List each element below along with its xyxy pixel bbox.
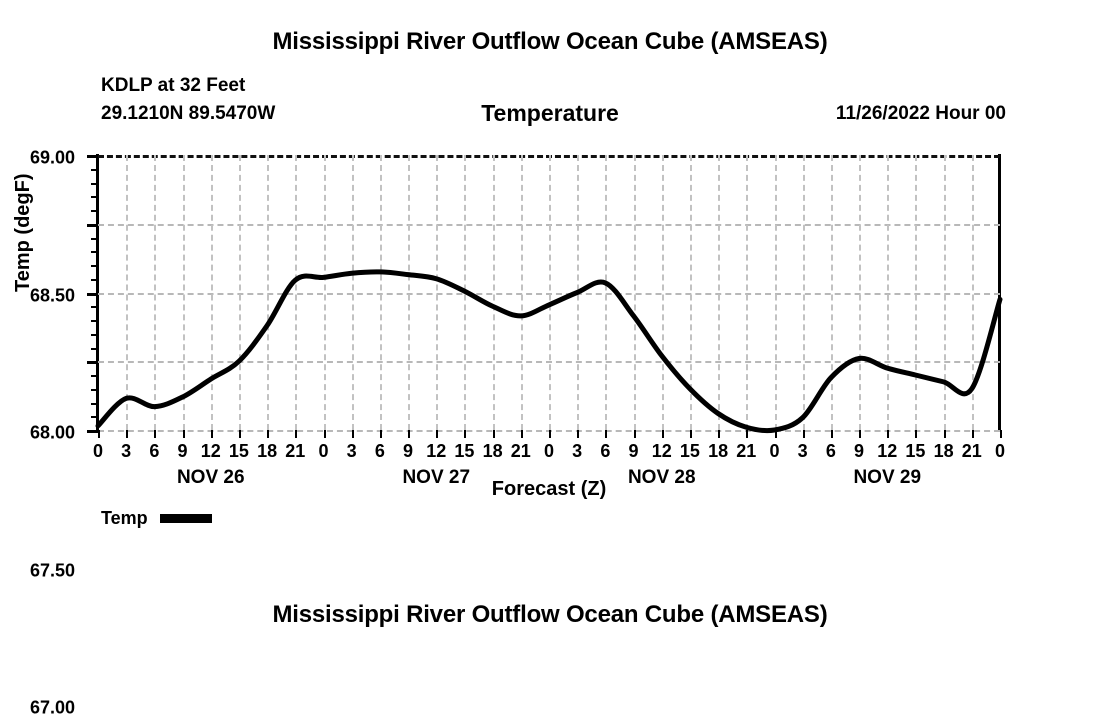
y-tick-minor xyxy=(91,403,98,405)
y-tick-minor xyxy=(91,251,98,253)
x-tick-label: 21 xyxy=(736,441,756,462)
x-tick xyxy=(972,430,974,438)
x-tick xyxy=(408,430,410,438)
legend-label-temp: Temp xyxy=(101,508,148,529)
x-tick xyxy=(154,430,156,438)
y-tick-major: 68.50 xyxy=(87,224,98,227)
y-tick-minor xyxy=(91,416,98,418)
x-tick-label: 3 xyxy=(121,441,131,462)
x-tick-label: 6 xyxy=(826,441,836,462)
x-tick xyxy=(436,430,438,438)
y-tick-minor xyxy=(91,334,98,336)
x-tick xyxy=(662,430,664,438)
x-tick-label: 0 xyxy=(544,441,554,462)
x-tick-label: 18 xyxy=(483,441,503,462)
model-run-time-label: 11/26/2022 Hour 00 xyxy=(836,103,1006,125)
x-tick xyxy=(746,430,748,438)
x-tick xyxy=(183,430,185,438)
x-tick xyxy=(1000,430,1002,438)
x-tick xyxy=(267,430,269,438)
chart-page: Mississippi River Outflow Ocean Cube (AM… xyxy=(0,0,1100,650)
x-tick xyxy=(944,430,946,438)
x-tick-label: 15 xyxy=(229,441,249,462)
x-axis-title: Forecast (Z) xyxy=(98,478,1000,501)
x-tick-label: 9 xyxy=(178,441,188,462)
x-tick xyxy=(803,430,805,438)
y-tick-minor xyxy=(91,348,98,350)
x-tick xyxy=(239,430,241,438)
x-tick xyxy=(605,430,607,438)
y-tick-minor xyxy=(91,389,98,391)
x-tick-label: 3 xyxy=(347,441,357,462)
x-tick-label: 3 xyxy=(798,441,808,462)
x-tick-label: 0 xyxy=(318,441,328,462)
station-depth-label: KDLP at 32 Feet xyxy=(101,75,245,97)
temperature-series-line xyxy=(98,155,1000,430)
x-tick-label: 15 xyxy=(905,441,925,462)
y-tick-label: 68.00 xyxy=(30,423,75,444)
y-tick-label: 69.00 xyxy=(30,148,75,169)
x-tick-label: 15 xyxy=(454,441,474,462)
x-tick xyxy=(915,430,917,438)
x-tick xyxy=(690,430,692,438)
x-tick xyxy=(126,430,128,438)
y-tick-minor xyxy=(91,183,98,185)
plot-area: 67.0067.5068.0068.5069.00 03691215182103… xyxy=(98,155,1000,430)
y-tick-minor xyxy=(91,169,98,171)
series-path-temp xyxy=(98,272,1000,431)
x-tick xyxy=(887,430,889,438)
page-title-bottom: Mississippi River Outflow Ocean Cube (AM… xyxy=(0,601,1100,629)
x-tick xyxy=(380,430,382,438)
x-tick-label: 12 xyxy=(652,441,672,462)
x-tick xyxy=(549,430,551,438)
x-tick xyxy=(577,430,579,438)
x-tick-label: 21 xyxy=(285,441,305,462)
x-tick-label: 18 xyxy=(708,441,728,462)
page-title-top: Mississippi River Outflow Ocean Cube (AM… xyxy=(0,28,1100,56)
x-tick xyxy=(464,430,466,438)
y-tick-minor xyxy=(91,375,98,377)
x-tick xyxy=(634,430,636,438)
x-tick-label: 3 xyxy=(572,441,582,462)
y-tick-major: 67.00 xyxy=(87,430,98,433)
x-tick-label: 0 xyxy=(93,441,103,462)
x-tick-label: 0 xyxy=(769,441,779,462)
x-tick xyxy=(718,430,720,438)
x-tick-label: 21 xyxy=(962,441,982,462)
y-tick-minor xyxy=(91,210,98,212)
x-tick-label: 9 xyxy=(854,441,864,462)
x-tick xyxy=(295,430,297,438)
x-tick-label: 9 xyxy=(629,441,639,462)
x-tick xyxy=(859,430,861,438)
y-tick-minor xyxy=(91,306,98,308)
y-axis-title: Temp (degF) xyxy=(12,173,35,292)
x-tick xyxy=(831,430,833,438)
legend: Temp xyxy=(101,508,212,529)
y-tick-label: 67.00 xyxy=(30,698,75,719)
x-tick xyxy=(324,430,326,438)
x-tick-label: 12 xyxy=(201,441,221,462)
y-tick-minor xyxy=(91,279,98,281)
x-tick xyxy=(521,430,523,438)
x-tick xyxy=(493,430,495,438)
x-tick-label: 0 xyxy=(995,441,1005,462)
x-tick xyxy=(98,430,100,438)
x-tick-label: 18 xyxy=(257,441,277,462)
x-tick-label: 6 xyxy=(149,441,159,462)
x-tick-label: 6 xyxy=(375,441,385,462)
x-tick xyxy=(211,430,213,438)
y-tick-major: 69.00 xyxy=(87,155,98,158)
y-tick-label: 67.50 xyxy=(30,560,75,581)
x-tick-label: 15 xyxy=(680,441,700,462)
y-tick-major: 67.50 xyxy=(87,361,98,364)
x-tick-label: 18 xyxy=(934,441,954,462)
y-tick-minor xyxy=(91,196,98,198)
y-tick-minor xyxy=(91,238,98,240)
x-tick-label: 6 xyxy=(600,441,610,462)
x-tick-label: 9 xyxy=(403,441,413,462)
x-tick-label: 21 xyxy=(511,441,531,462)
y-tick-label: 68.50 xyxy=(30,285,75,306)
x-tick xyxy=(352,430,354,438)
x-tick-label: 12 xyxy=(426,441,446,462)
y-tick-minor xyxy=(91,265,98,267)
y-tick-major: 68.00 xyxy=(87,293,98,296)
y-tick-minor xyxy=(91,320,98,322)
legend-swatch-temp xyxy=(160,514,212,523)
x-tick-label: 12 xyxy=(877,441,897,462)
